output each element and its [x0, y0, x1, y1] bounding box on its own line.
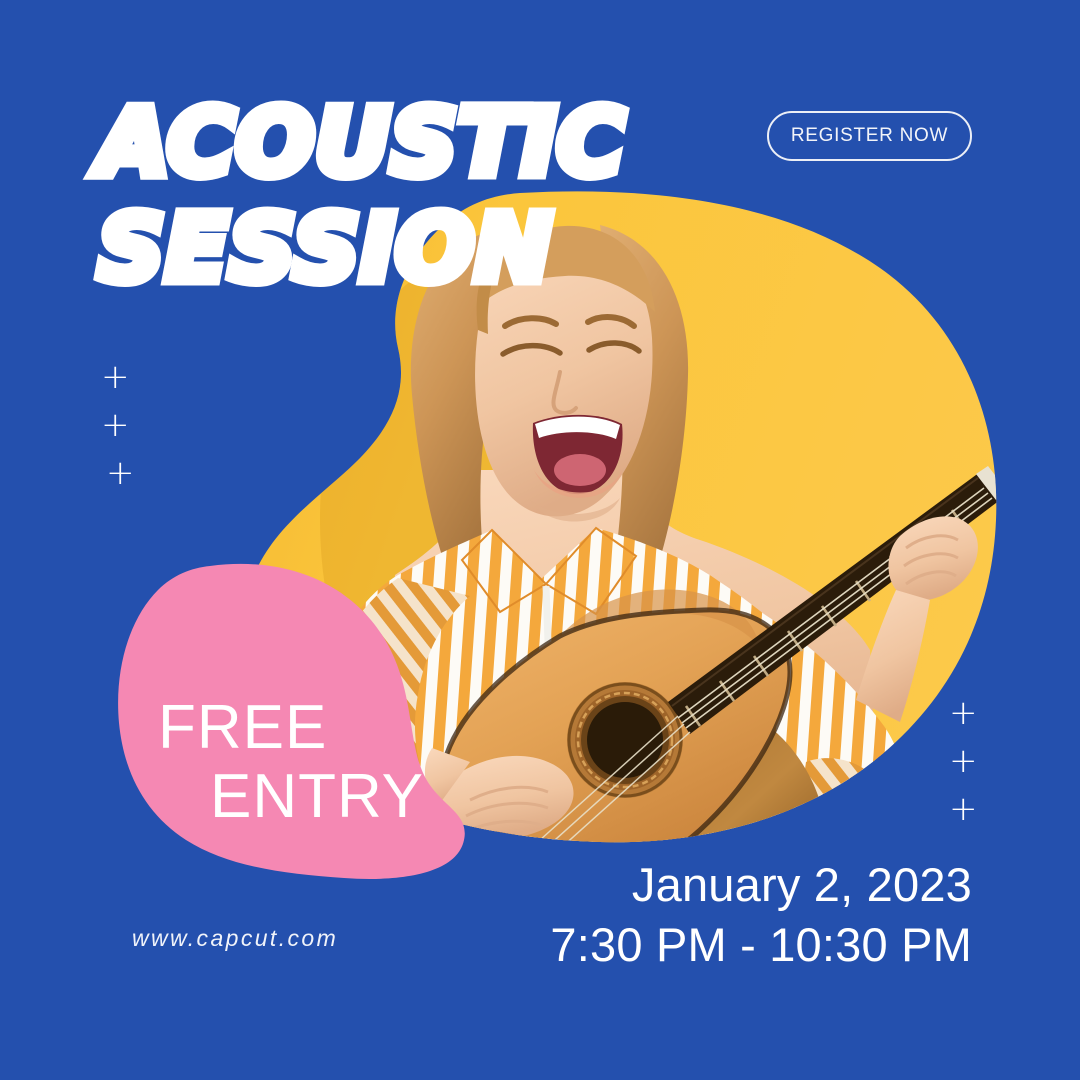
plus-icon: +	[949, 744, 978, 778]
free-entry-line-2: ENTRY	[158, 762, 424, 831]
event-date: January 2, 2023	[550, 857, 972, 913]
fretting-hand	[856, 516, 978, 722]
free-entry-badge: FREE ENTRY	[158, 693, 424, 832]
title-line-2: SESSION	[98, 204, 626, 294]
plus-icon: +	[101, 360, 130, 394]
plus-icon: +	[949, 792, 978, 826]
sound-hole	[567, 682, 683, 798]
plus-icon: +	[106, 456, 135, 490]
free-entry-line-1: FREE	[158, 693, 424, 762]
poster-canvas: ACOUSTIC SESSION REGISTER NOW + + + + + …	[0, 0, 1080, 1080]
title-line-1: ACOUSTIC	[98, 98, 626, 188]
register-now-button[interactable]: REGISTER NOW	[767, 111, 972, 161]
acoustic-guitar	[440, 466, 1008, 918]
event-datetime: January 2, 2023 7:30 PM - 10:30 PM	[550, 857, 972, 974]
plus-icon: +	[949, 696, 978, 730]
event-time: 7:30 PM - 10:30 PM	[550, 917, 972, 973]
strumming-hand	[425, 748, 574, 840]
plus-icon: +	[101, 408, 130, 442]
poster-title: ACOUSTIC SESSION	[98, 98, 626, 294]
website-url[interactable]: www.capcut.com	[132, 925, 338, 952]
